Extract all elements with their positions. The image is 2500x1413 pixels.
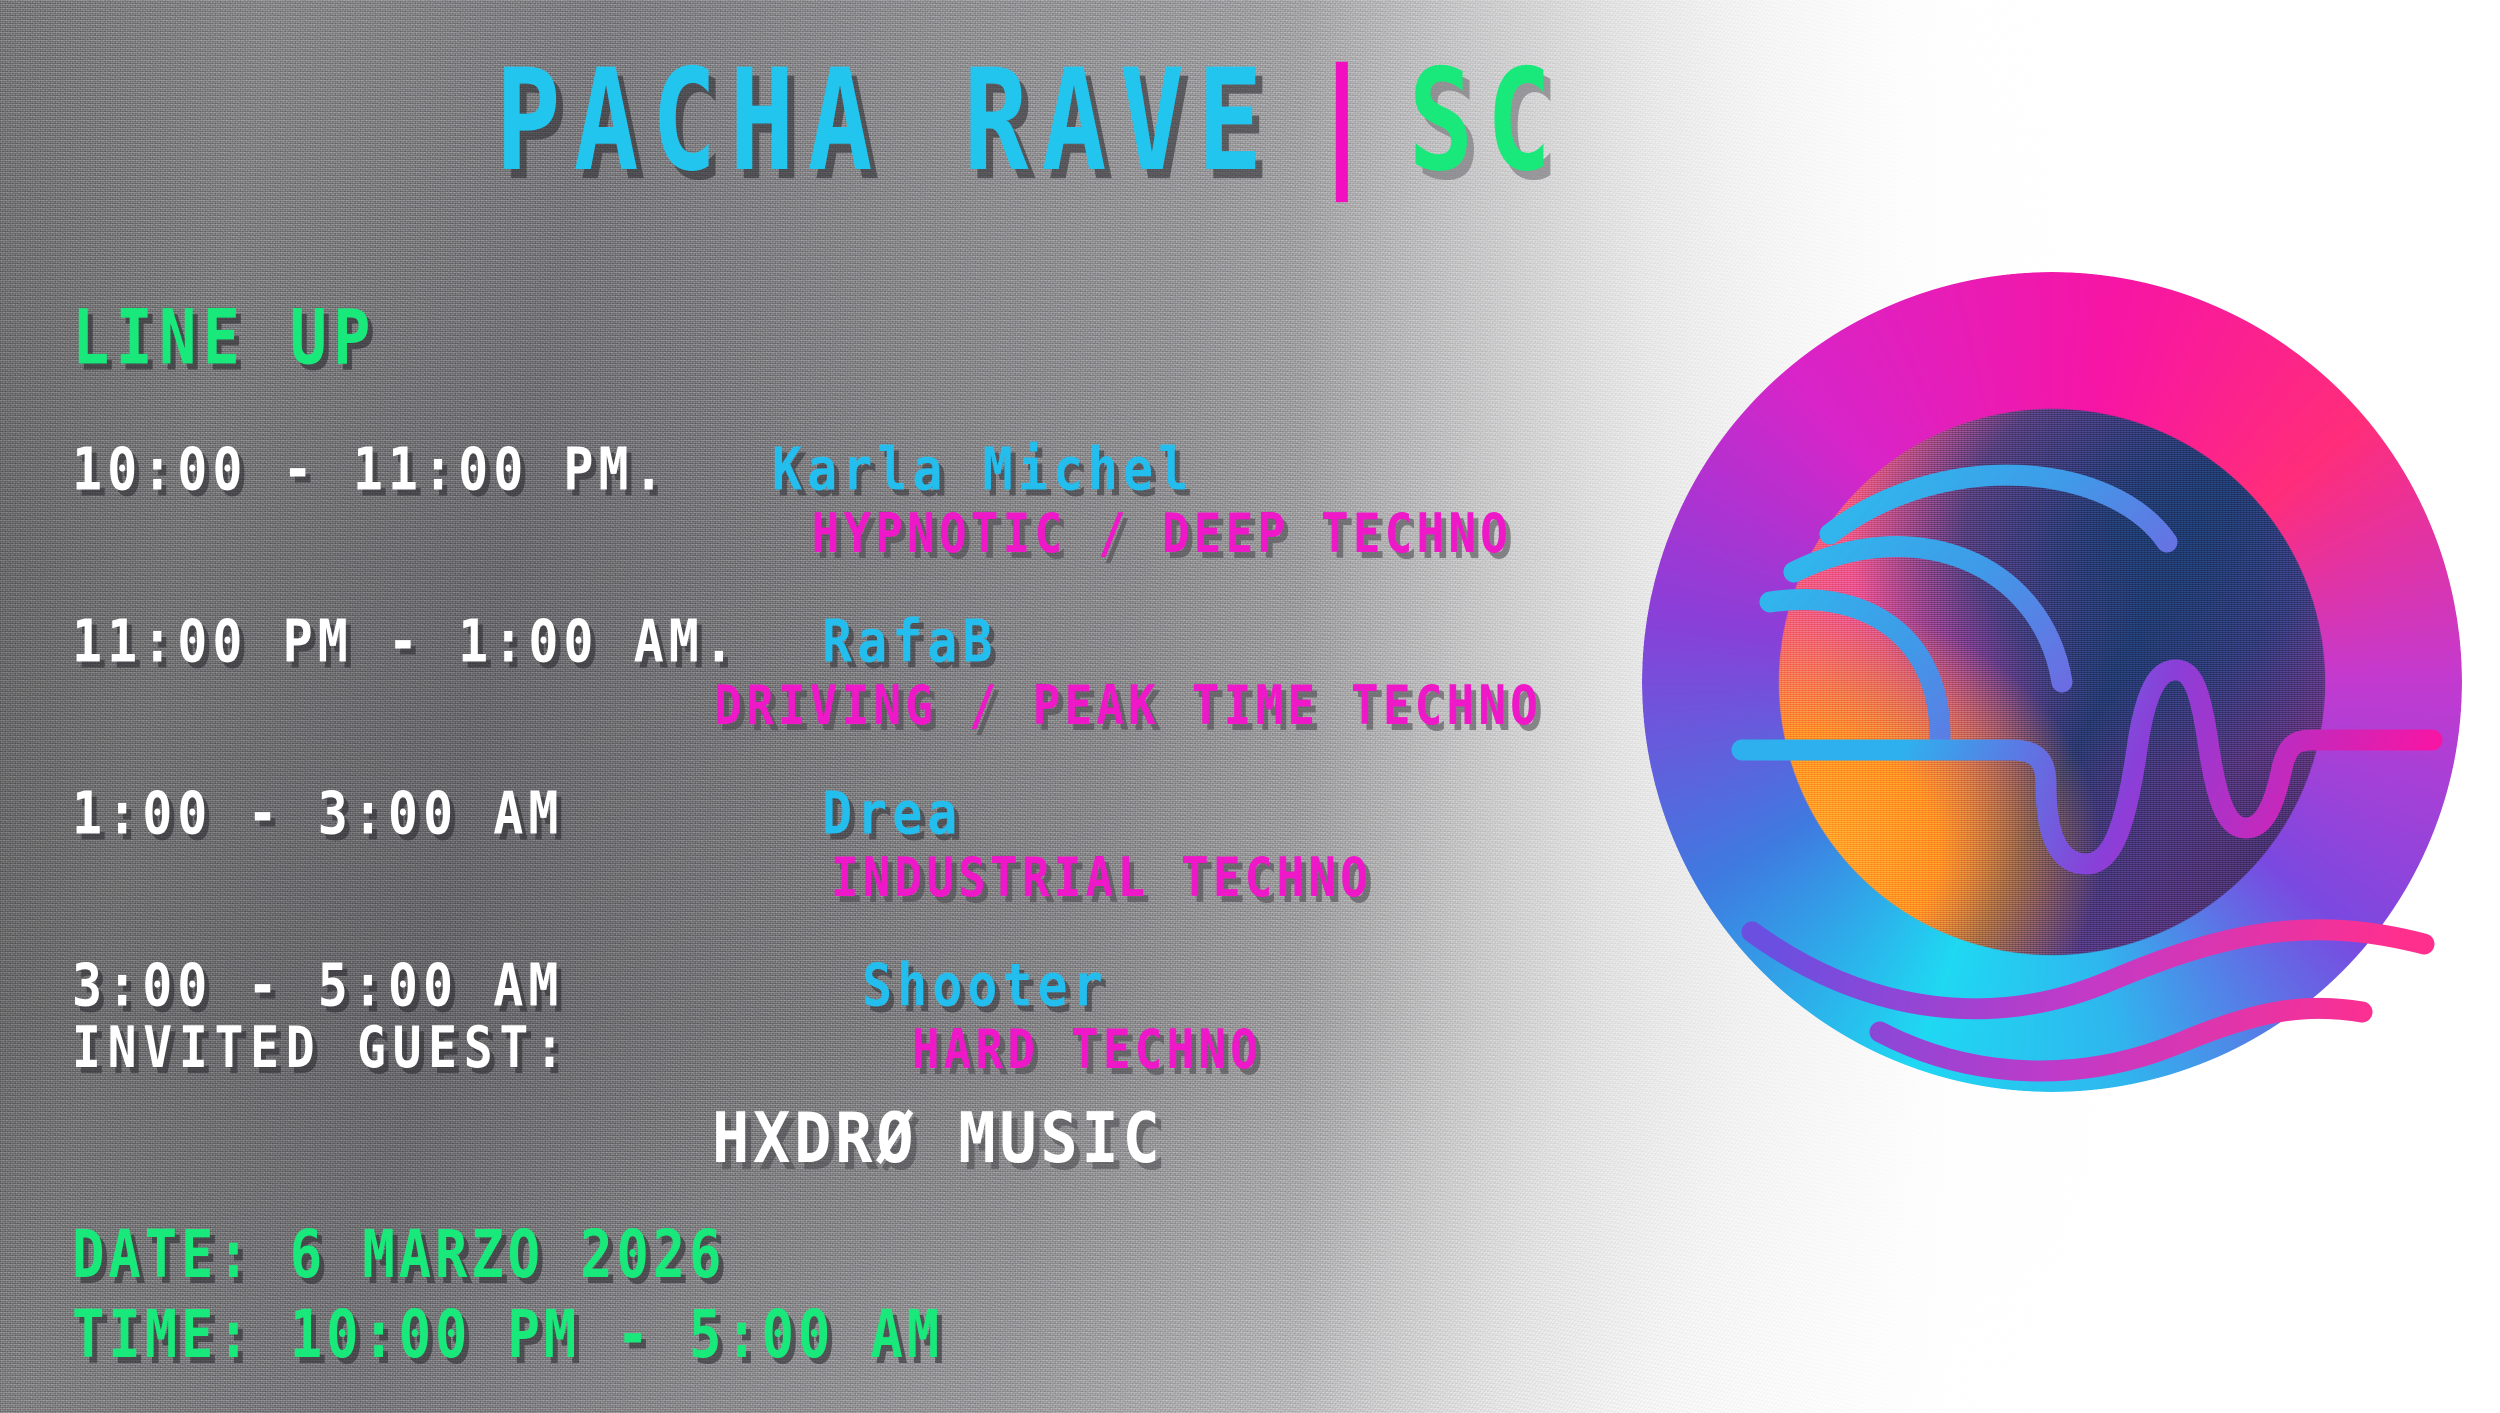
slot-artist: RafaB <box>822 612 998 671</box>
slot-artist: Drea <box>822 784 962 843</box>
logo-artwork-icon <box>1642 272 2462 1092</box>
flyer-canvas: PACHA RAVE | SC LINE UP 10:00 - 11:00 PM… <box>0 0 2500 1413</box>
lineup-slot: 11:00 PM - 1:00 AM. RafaB DRIVING / PEAK… <box>72 612 1632 724</box>
slot-time: 11:00 PM - 1:00 AM. <box>72 612 712 671</box>
flyer-title: PACHA RAVE | SC <box>0 52 2060 160</box>
slot-artist: Karla Michel <box>772 440 1193 499</box>
slot-genre: HYPNOTIC / DEEP TECHNO <box>72 506 1512 560</box>
slot-genre: INDUSTRIAL TECHNO <box>72 850 1372 904</box>
invited-guest-name: HXDRØ MUSIC <box>712 1104 1572 1173</box>
slot-genre: DRIVING / PEAK TIME TECHNO <box>72 678 1542 732</box>
invited-guest-block: INVITED GUEST: HXDRØ MUSIC <box>72 1020 1572 1166</box>
lineup-heading: LINE UP <box>72 300 377 376</box>
slot-artist: Shooter <box>862 956 1108 1015</box>
title-separator-icon: | <box>1309 52 1374 192</box>
title-main-text: PACHA RAVE <box>496 52 1276 192</box>
event-date: DATE: 6 MARZO 2026 <box>72 1222 943 1288</box>
lineup-slot: 1:00 - 3:00 AM Drea INDUSTRIAL TECHNO <box>72 784 1632 896</box>
title-suffix-text: SC <box>1408 52 1564 192</box>
lineup-slot: 10:00 - 11:00 PM. Karla Michel HYPNOTIC … <box>72 440 1632 552</box>
event-time: TIME: 10:00 PM - 5:00 AM <box>72 1302 943 1368</box>
slot-time: 3:00 - 5:00 AM <box>72 956 612 1015</box>
slot-time: 10:00 - 11:00 PM. <box>72 440 712 499</box>
palm-wave-logo <box>1642 272 2462 1092</box>
event-footer: DATE: 6 MARZO 2026 TIME: 10:00 PM - 5:00… <box>72 1222 943 1382</box>
slot-time: 1:00 - 3:00 AM <box>72 784 612 843</box>
invited-guest-label: INVITED GUEST: <box>72 1020 1572 1077</box>
